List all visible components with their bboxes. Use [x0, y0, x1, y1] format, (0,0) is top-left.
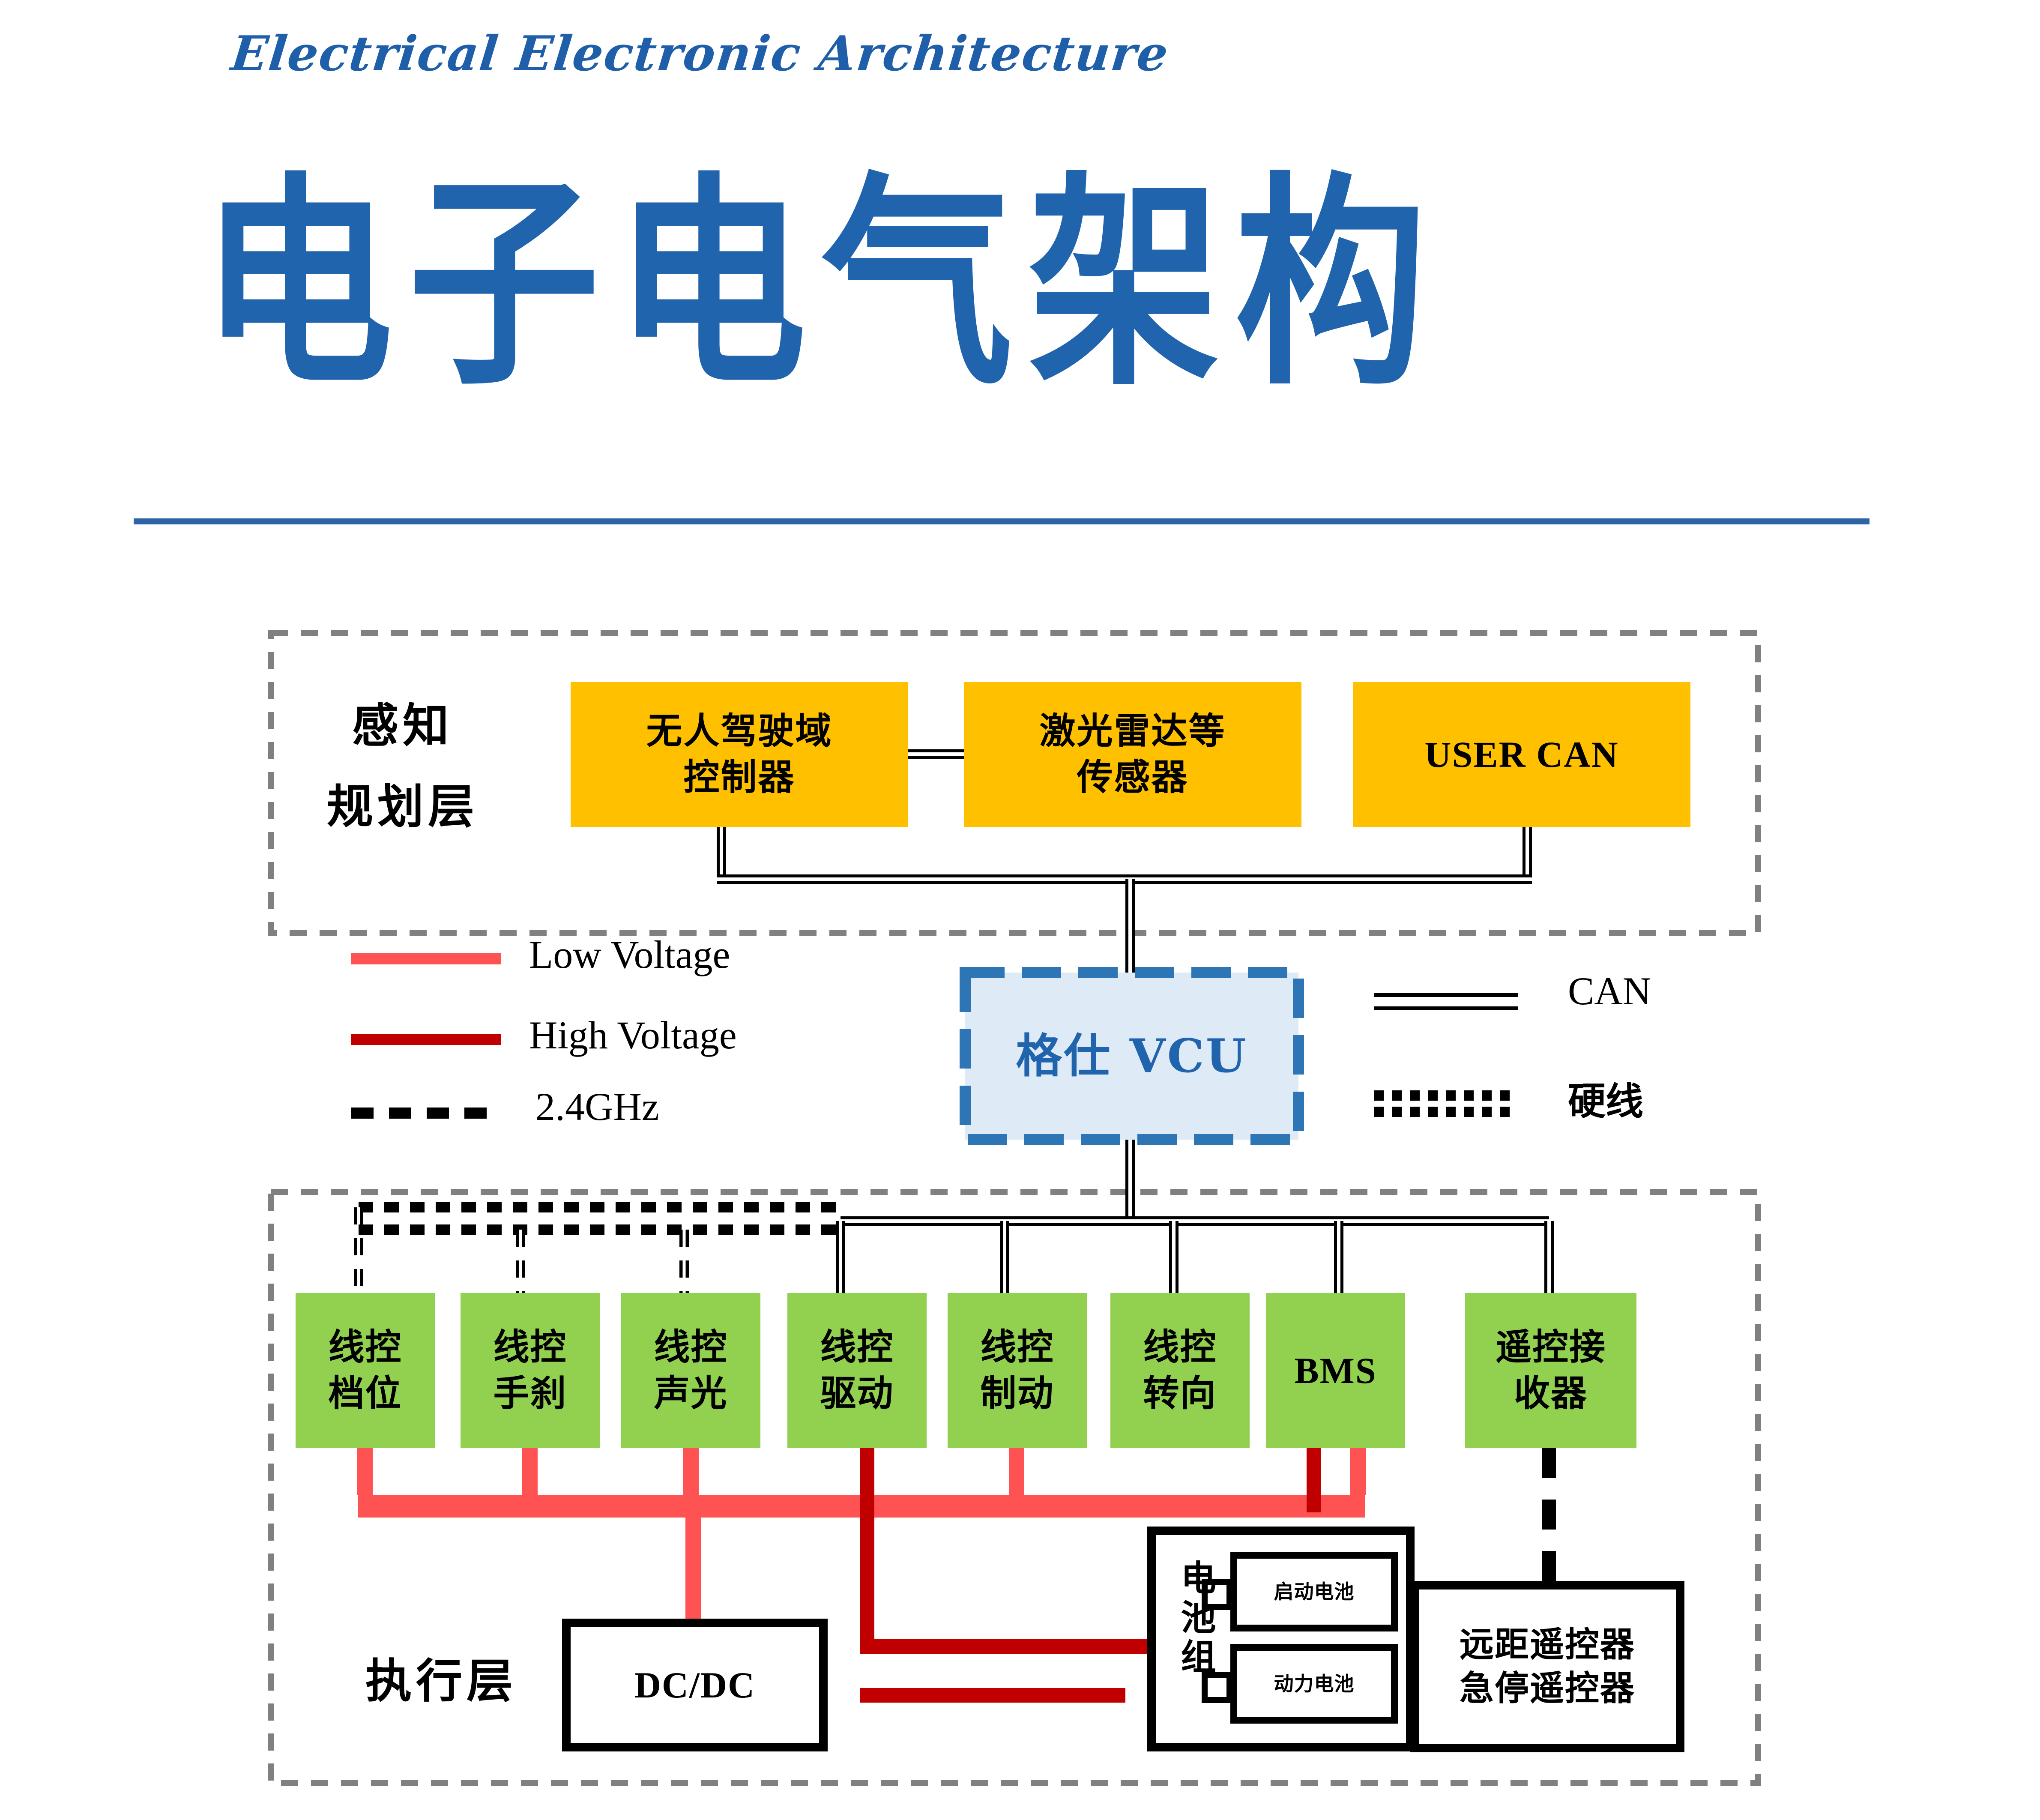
box-rcrx-label: 遥控接 收器 — [1465, 1293, 1636, 1448]
legend-can-label: CAN — [1568, 968, 1651, 1014]
legend-wireless-icon — [351, 1108, 501, 1119]
legend-hardwire-icon — [1374, 1090, 1518, 1101]
box-brake-label: 线控 制动 — [948, 1293, 1087, 1448]
box-remote-label: 远距遥控器 急停遥控器 — [1415, 1585, 1680, 1748]
box-lidar-label: 激光雷达等 传感器 — [964, 682, 1301, 827]
box-start-battery-label: 启动电池 — [1234, 1555, 1394, 1628]
box-bms-label: BMS — [1266, 1293, 1405, 1448]
execution-layer-label: 执行层 — [338, 1641, 544, 1722]
hardwire-bus-execution — [359, 1207, 841, 1293]
legend-low-voltage-label: Low Voltage — [529, 932, 730, 977]
legend-wireless-label: 2.4GHz — [535, 1084, 659, 1129]
battery-pack-label: 电池组 — [1170, 1560, 1220, 1718]
legend-high-voltage-label: High Voltage — [529, 1012, 737, 1058]
box-drive-label: 线控 驱动 — [787, 1293, 927, 1448]
legend-hardwire-label: 硬线 — [1568, 1071, 1643, 1126]
box-power-battery-label: 动力电池 — [1234, 1647, 1394, 1720]
box-gear-label: 线控 档位 — [296, 1293, 435, 1448]
can-bus-execution — [841, 1221, 1549, 1293]
architecture-diagram — [0, 0, 2040, 1820]
perception-layer-label: 感知 规划层 — [317, 685, 488, 847]
box-vcu-label: 格仕 VCU — [965, 973, 1298, 1140]
box-ebrake-label: 线控 手刹 — [461, 1293, 600, 1448]
box-dcdc-label: DC/DC — [566, 1623, 823, 1747]
box-light-label: 线控 声光 — [621, 1293, 760, 1448]
legend-low-voltage — [351, 953, 501, 964]
legend-hardwire-icon-2 — [1374, 1107, 1518, 1117]
box-adc-label: 无人驾驶域 控制器 — [571, 682, 908, 827]
legend-can-icon — [1374, 993, 1518, 1010]
box-usercan-label: USER CAN — [1353, 682, 1690, 827]
box-steering-label: 线控 转向 — [1110, 1293, 1250, 1448]
legend-high-voltage — [351, 1034, 501, 1045]
